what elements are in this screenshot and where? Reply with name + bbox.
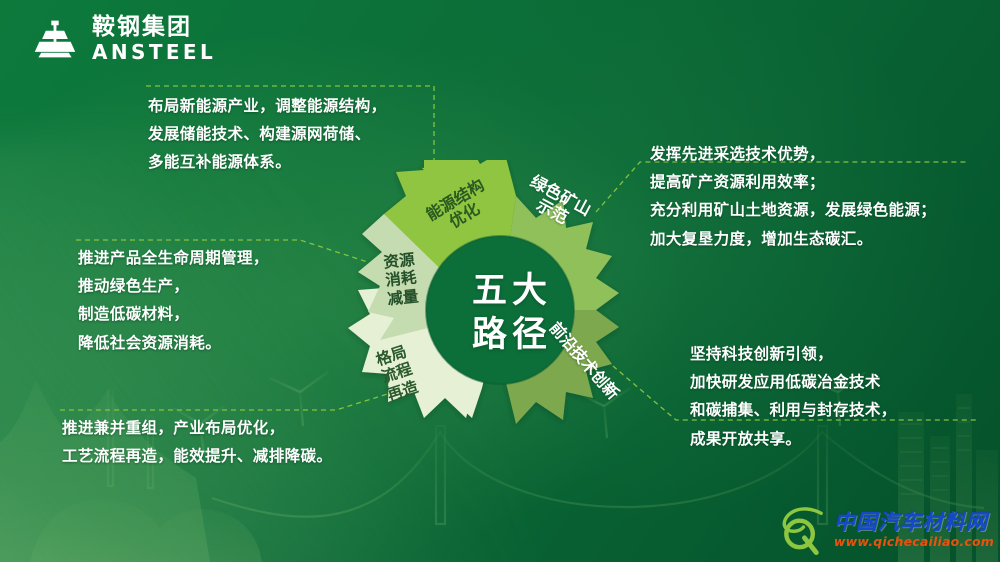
center-title-line1: 五大 bbox=[452, 270, 572, 314]
watermark-url: www.qichecailiao.com bbox=[834, 536, 994, 549]
anshan-steel-mountain-icon bbox=[32, 16, 78, 62]
trees-silhouette bbox=[0, 380, 262, 562]
callout-green-mine: 发挥先进采选技术优势， 提高矿产资源利用效率； 充分利用矿山土地资源，发展绿色能… bbox=[650, 140, 980, 253]
watermark-site-name: 中国汽车材料网 bbox=[834, 512, 994, 533]
center-title-line2: 路径 bbox=[452, 314, 572, 358]
callout-frontier-tech: 坚持科技创新引领， 加快研发应用低碳冶金技术 和碳捕集、利用与封存技术， 成果开… bbox=[690, 340, 990, 453]
brand-logo: 鞍钢集团 ANSTEEL bbox=[32, 16, 216, 62]
qichecailiao-q-car-icon bbox=[776, 504, 830, 556]
callout-layout-process: 推进兼并重组，产业布局优化， 工艺流程再造，能效提升、减排降碳。 bbox=[62, 414, 392, 470]
site-watermark: 中国汽车材料网 www.qichecailiao.com bbox=[776, 504, 994, 556]
slide-canvas: 鞍钢集团 ANSTEEL bbox=[0, 0, 1000, 562]
donut-center-title: 五大 路径 bbox=[452, 270, 572, 358]
callout-resource-reduction: 推进产品全生命周期管理， 推动绿色生产， 制造低碳材料， 降低社会资源消耗。 bbox=[78, 244, 368, 357]
callout-energy-structure: 布局新能源产业，调整能源结构， 发展储能技术、构建源网荷储、 多能互补能源体系。 bbox=[148, 92, 448, 177]
brand-name-cn: 鞍钢集团 bbox=[92, 16, 216, 39]
brand-name-en: ANSTEEL bbox=[92, 42, 216, 62]
